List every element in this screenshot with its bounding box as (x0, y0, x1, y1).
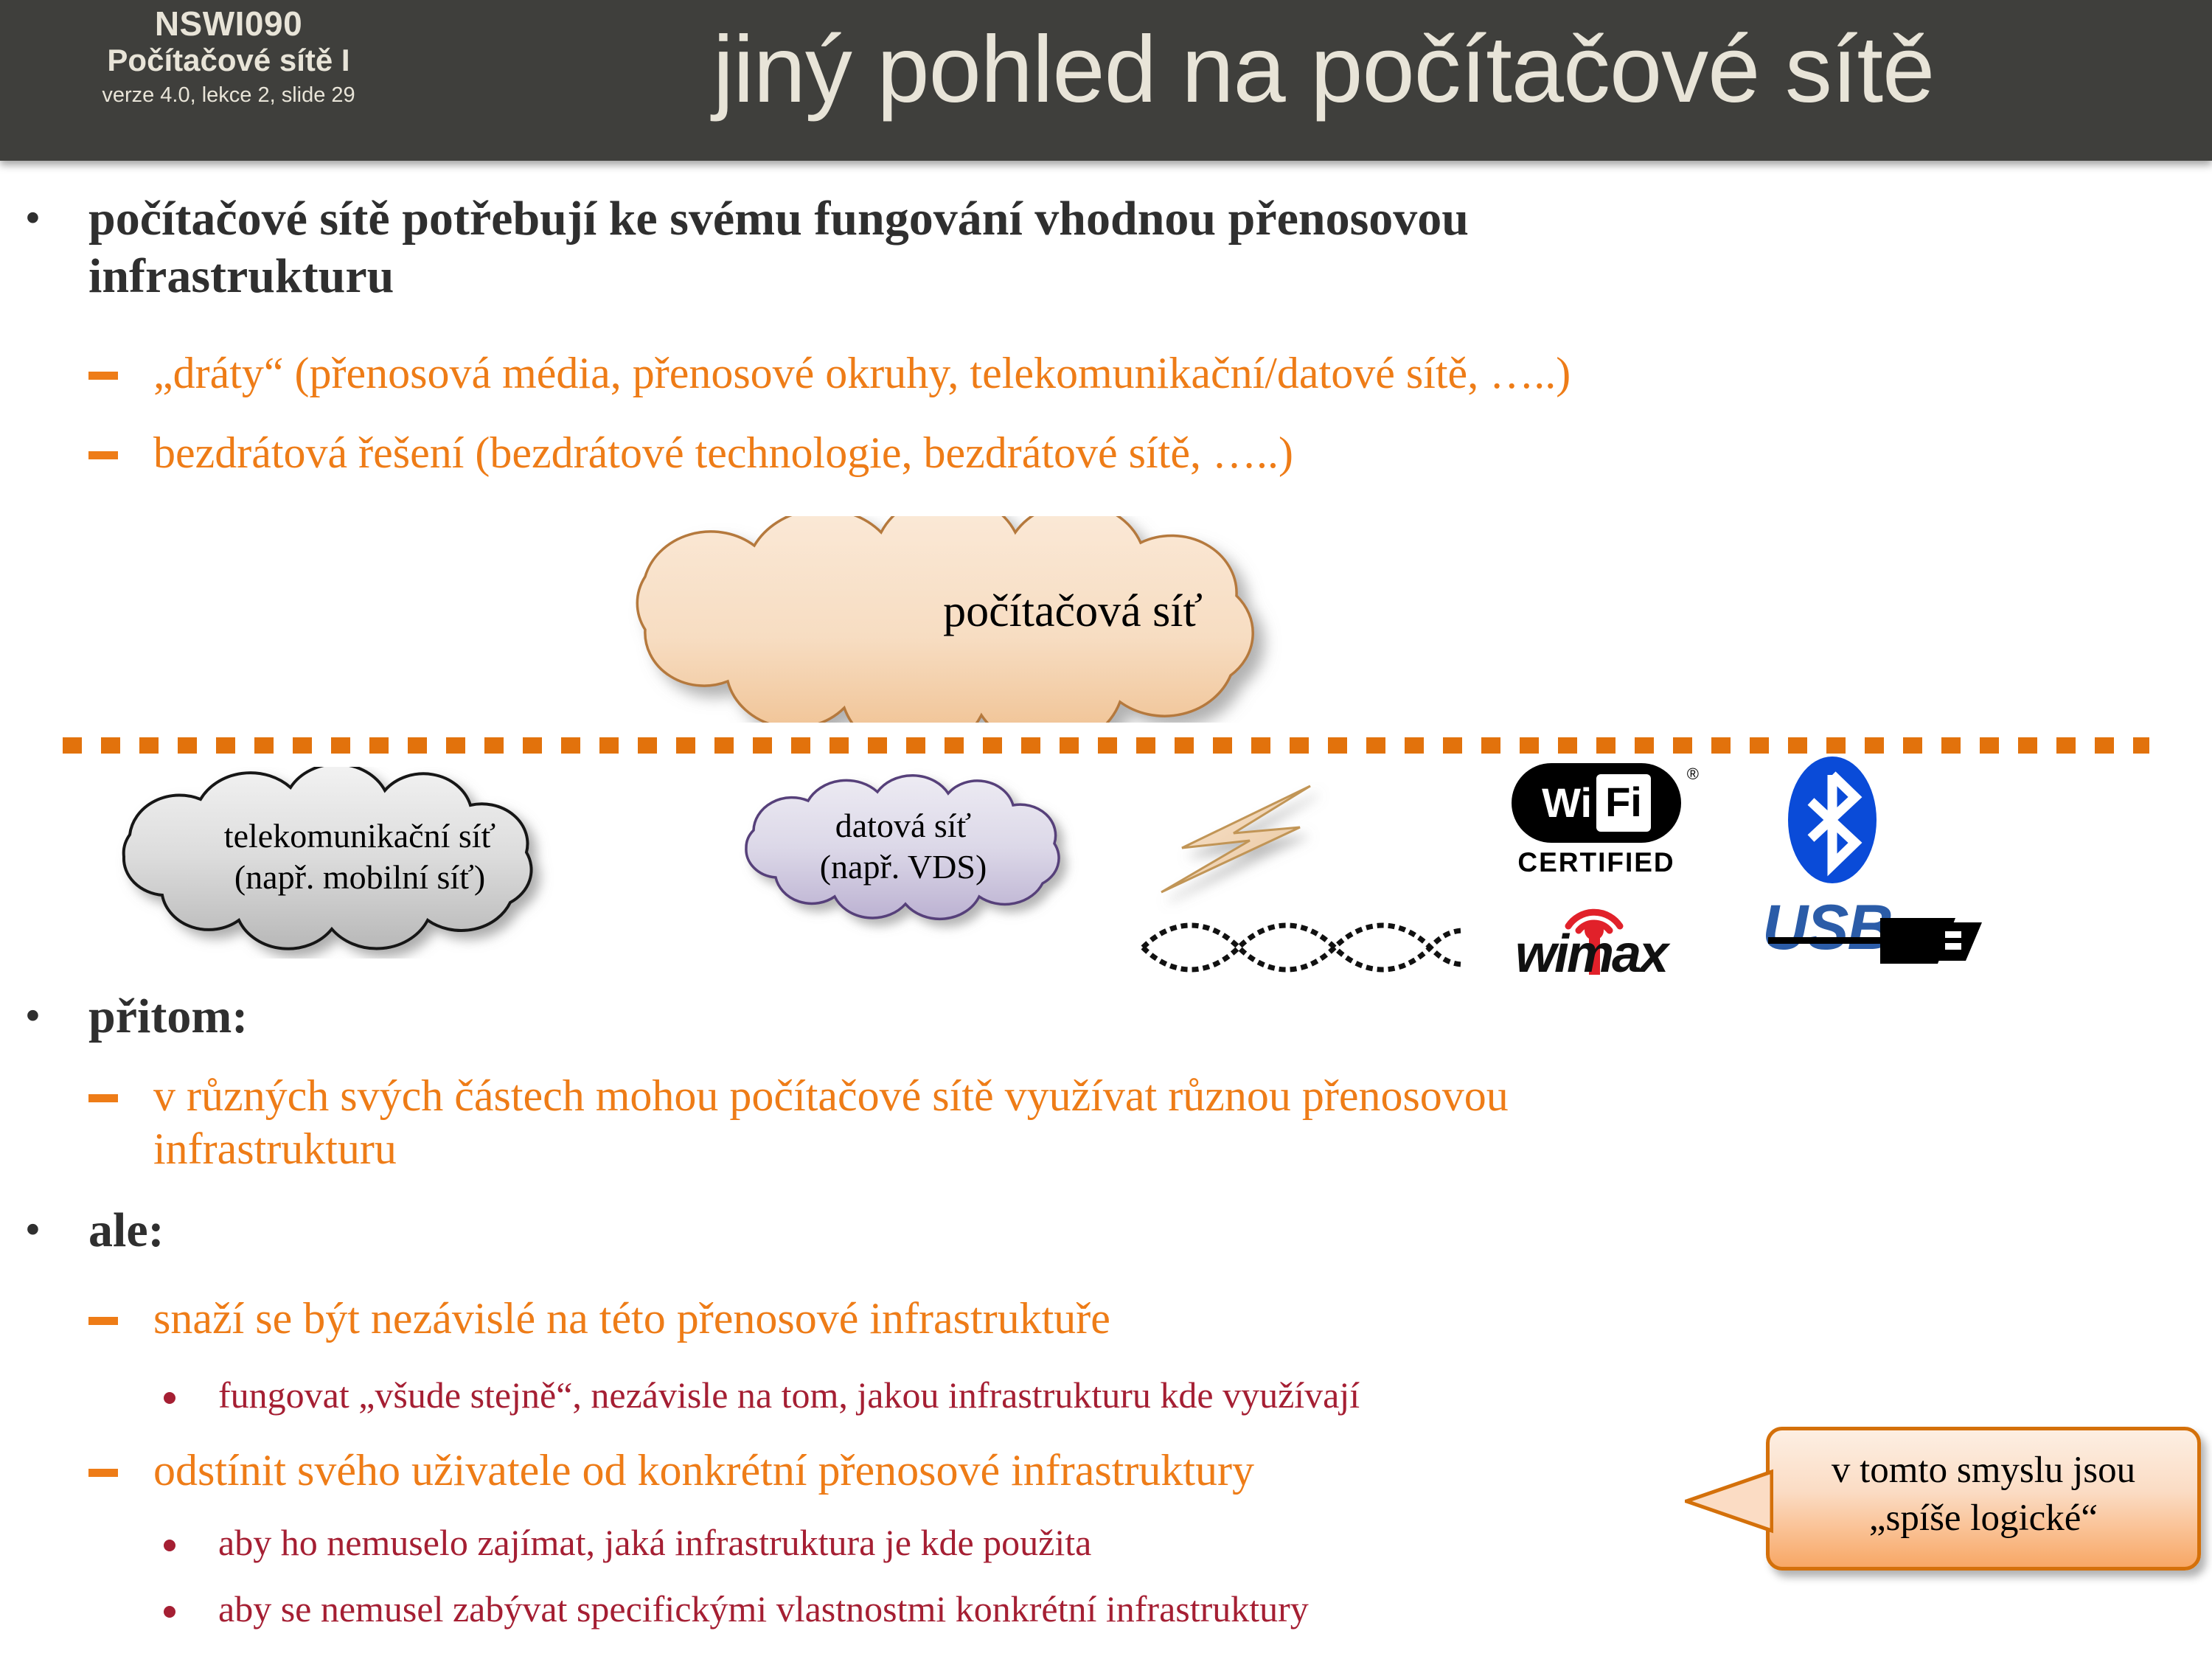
callout-bubble: v tomto smyslu jsou „spíše logické“ (1766, 1427, 2201, 1571)
bullet-dot-icon: • (26, 995, 40, 1035)
lightning-bolt-icon (1154, 759, 1464, 914)
bullet-level2-draty: „dráty“ (přenosová média, přenosové okru… (153, 347, 2181, 400)
cloud-shape-data (693, 759, 1113, 955)
wimax-logo-text: wimax (1515, 928, 1666, 981)
bullet-line: v různých svých částech mohou počítačové… (153, 1069, 2181, 1122)
bullet-dot-icon: • (26, 1209, 40, 1249)
twisted-pair-cable-icon (1128, 922, 1475, 973)
callout-line: v tomto smyslu jsou (1770, 1447, 2197, 1495)
bluetooth-icon (1784, 756, 1880, 885)
bullet-level3-aby-se: aby se nemusel zabývat specifickými vlas… (218, 1587, 1988, 1631)
wifi-logo-wi-text: Wi (1542, 782, 1592, 824)
callout-text: v tomto smyslu jsou „spíše logické“ (1770, 1447, 2197, 1543)
bullet-line: aby ho nemuselo zajímat, jaká infrastruk… (218, 1520, 1730, 1565)
cloud-telekomunikacni-sit: telekomunikační síť (např. mobilní síť) (35, 767, 684, 959)
bluetooth-logo (1784, 756, 1880, 885)
bullet-line: snaží se být nezávislé na této přenosové… (153, 1292, 2181, 1345)
bullet-line: fungovat „všude stejně“, nezávisle na to… (218, 1373, 2209, 1417)
bullet-level2-odstinit: odstínit svého uživatele od konkrétní př… (153, 1444, 1775, 1497)
dash-marker-icon (88, 451, 118, 459)
dash-marker-icon (88, 1317, 118, 1325)
bullet-dot-icon: • (26, 198, 40, 237)
course-name: Počítačové sítě I (22, 43, 435, 78)
bullet-line: počítačové sítě potřebují ke svému fungo… (88, 190, 2116, 248)
bullet-dot-icon (164, 1606, 175, 1618)
bullet-level3-fungovat: fungovat „všude stejně“, nezávisle na to… (218, 1373, 2209, 1417)
wifi-certified-logo: Wi Fi ® CERTIFIED (1512, 763, 1681, 878)
bullet-level1-ale: • ale: (88, 1202, 2116, 1259)
bullet-line: infrastrukturu (153, 1122, 2181, 1175)
wifi-logo-pill: Wi Fi ® (1512, 763, 1681, 843)
bullet-line: infrastrukturu (88, 248, 2116, 305)
dash-marker-icon (88, 1094, 118, 1102)
bullet-level2-bezdratova: bezdrátová řešení (bezdrátové technologi… (153, 426, 2181, 479)
cloud-shape-main (424, 516, 1722, 723)
wifi-certified-text: CERTIFIED (1512, 847, 1681, 878)
usb-connector-icon (1762, 896, 1983, 977)
callout-tail-icon (1685, 1467, 1773, 1534)
bullet-level3-aby-ho: aby ho nemuselo zajímat, jaká infrastruk… (218, 1520, 1730, 1565)
bullet-level2-snazi-se: snaží se být nezávislé na této přenosové… (153, 1292, 2181, 1345)
cloud-datova-sit: datová síť (např. VDS) (693, 759, 1113, 955)
bullet-dot-icon (164, 1540, 175, 1551)
bullet-line: „dráty“ (přenosová média, přenosové okru… (153, 347, 2181, 400)
bullet-line: aby se nemusel zabývat specifickými vlas… (218, 1587, 1988, 1631)
bullet-level2-ruzne-casti: v různých svých částech mohou počítačové… (153, 1069, 2181, 1175)
dashed-divider (63, 737, 2149, 754)
bullet-line: bezdrátová řešení (bezdrátové technologi… (153, 426, 2181, 479)
wimax-logo: wimax (1515, 885, 1700, 981)
dash-marker-icon (88, 372, 118, 380)
course-info-block: NSWI090 Počítačové sítě I verze 4.0, lek… (22, 6, 435, 108)
bullet-line: ale: (88, 1202, 2116, 1259)
course-code: NSWI090 (22, 6, 435, 43)
cloud-pocitacova-sit: počítačová síť (424, 516, 1722, 723)
registered-mark-icon: ® (1687, 765, 1699, 784)
bullet-level1-infrastruktura: • počítačové sítě potřebují ke svému fun… (88, 190, 2116, 305)
wifi-logo-fi-text: Fi (1596, 774, 1651, 832)
bullet-dot-icon (164, 1392, 175, 1404)
cloud-shape-telco (35, 767, 684, 959)
dash-marker-icon (88, 1469, 118, 1477)
bullet-line: přitom: (88, 988, 2116, 1046)
slide-header-bar: NSWI090 Počítačové sítě I verze 4.0, lek… (0, 0, 2212, 161)
page-title: jiný pohled na počítačové sítě (442, 0, 2205, 143)
bullet-level1-pritom: • přitom: (88, 988, 2116, 1046)
version-lecture-slide: verze 4.0, lekce 2, slide 29 (22, 84, 435, 108)
bullet-line: odstínit svého uživatele od konkrétní př… (153, 1444, 1775, 1497)
usb-logo: USB (1762, 896, 1983, 977)
callout-line: „spíše logické“ (1770, 1495, 2197, 1543)
